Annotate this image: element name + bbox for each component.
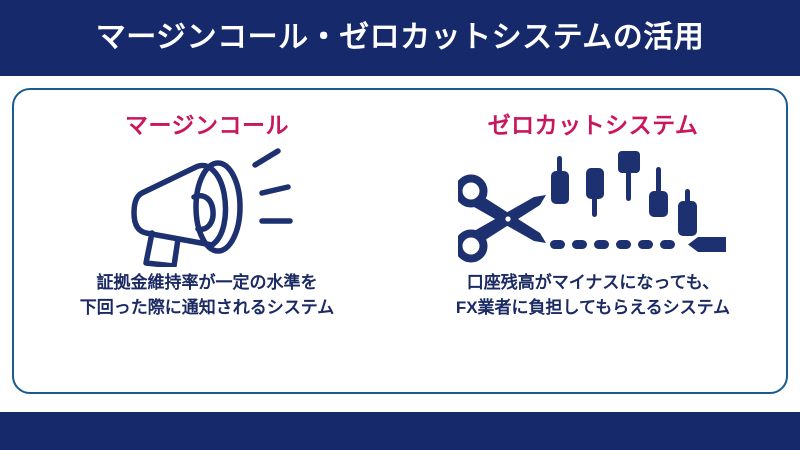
column-zero-cut: ゼロカットシステム xyxy=(400,90,786,392)
columns-container: マージンコール xyxy=(14,90,786,392)
page-title: マージンコール・ゼロカットシステムの活用 xyxy=(96,23,705,53)
scissors-chart-icon-area xyxy=(400,143,786,269)
description-line: FX業者に負担してもらえるシステム xyxy=(456,296,730,321)
column-description-margin-call: 証拠金維持率が一定の水準を 下回った際に通知されるシステム xyxy=(80,271,335,320)
content-card: マージンコール xyxy=(12,88,788,394)
header-bar: マージンコール・ゼロカットシステムの活用 xyxy=(0,0,800,76)
description-line: 下回った際に通知されるシステム xyxy=(80,296,335,321)
column-description-zero-cut: 口座残高がマイナスになっても、 FX業者に負担してもらえるシステム xyxy=(456,271,730,320)
column-heading-zero-cut: ゼロカットシステム xyxy=(488,114,699,137)
candlestick-group xyxy=(551,151,697,236)
footer-bar xyxy=(0,412,800,450)
scissors-cutting-candlestick-chart-icon xyxy=(458,145,728,267)
slide: マージンコール・ゼロカットシステムの活用 マージンコール xyxy=(0,0,800,450)
dashed-cut-line xyxy=(550,240,675,249)
left-arrow-marker xyxy=(688,237,726,252)
description-line: 口座残高がマイナスになっても、 xyxy=(456,271,730,296)
column-margin-call: マージンコール xyxy=(14,90,400,392)
scissors-icon xyxy=(459,179,547,259)
column-heading-margin-call: マージンコール xyxy=(125,114,289,137)
megaphone-icon-area xyxy=(14,143,400,269)
megaphone-icon xyxy=(112,145,302,267)
description-line: 証拠金維持率が一定の水準を xyxy=(80,271,335,296)
